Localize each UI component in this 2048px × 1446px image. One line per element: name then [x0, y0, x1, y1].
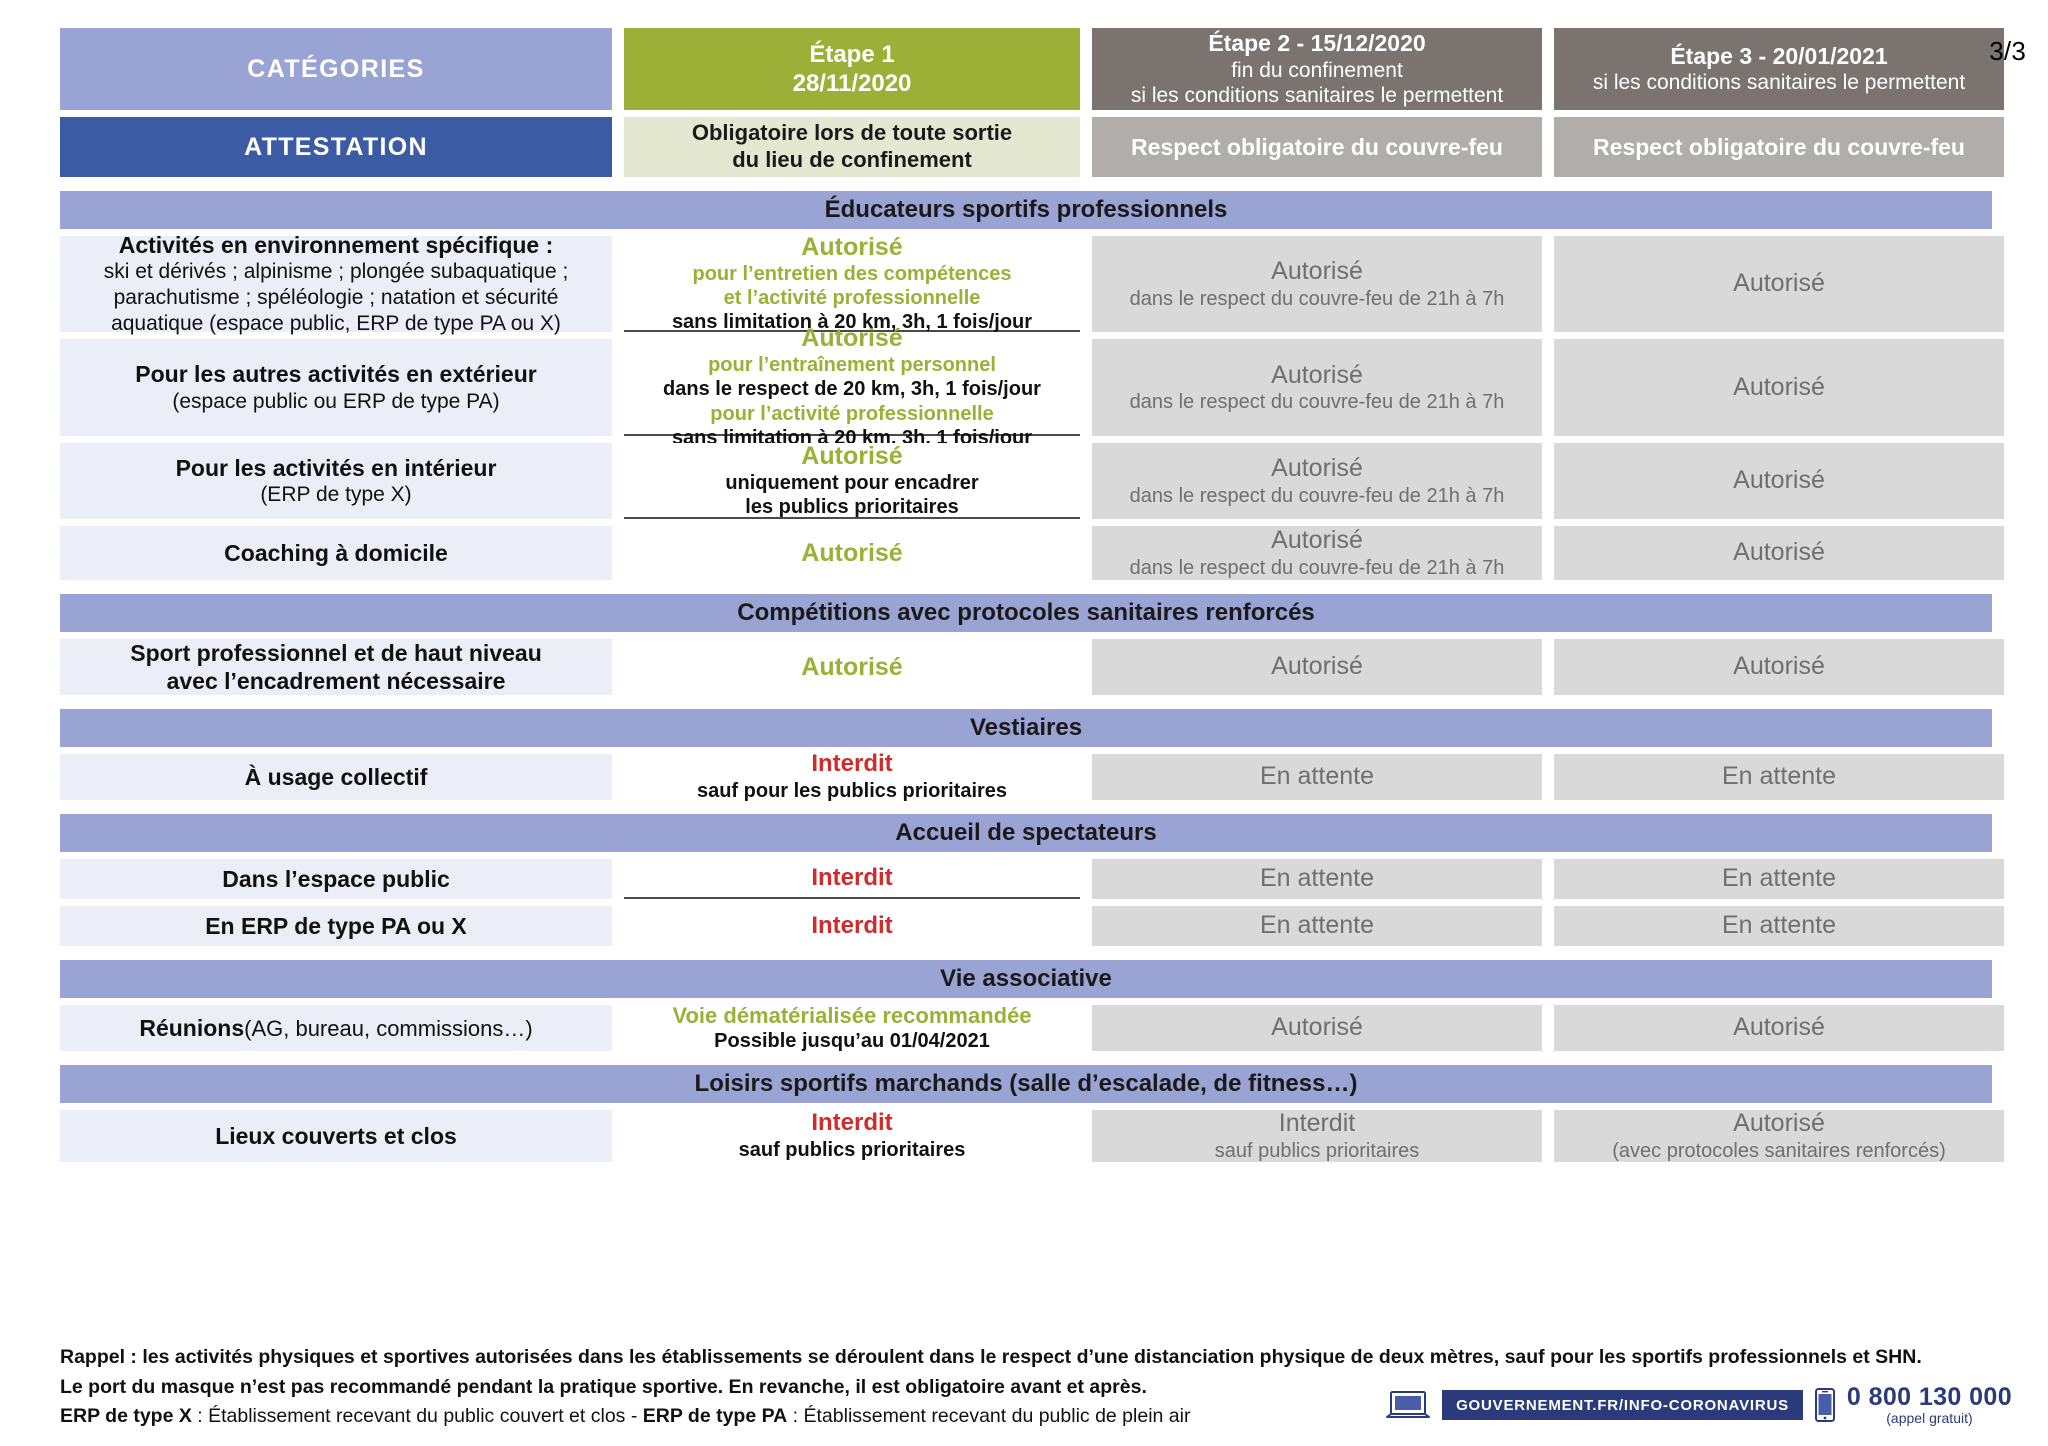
header-etape-3: Étape 3 - 20/01/2021 si les conditions s…: [1554, 28, 2004, 110]
row-etape-2: Autorisé: [1092, 1005, 1542, 1051]
etape-1-status: Autorisé: [801, 441, 902, 471]
table-row: À usage collectif Interdit sauf pour les…: [60, 754, 2012, 800]
etape-1-limit-note-1: dans le respect de 20 km, 3h, 1 fois/jou…: [663, 377, 1041, 401]
row-etape-3: En attente: [1554, 906, 2004, 946]
etape-1-limit-note-1: sauf publics prioritaires: [739, 1138, 966, 1162]
smartphone-icon: [1815, 1388, 1835, 1422]
attestation-row: ATTESTATION Obligatoire lors de toute so…: [60, 117, 2012, 177]
row-etape-2: Interdit sauf publics prioritaires: [1092, 1110, 1542, 1162]
row-etape-2: Autorisé dans le respect du couvre-feu d…: [1092, 236, 1542, 332]
category-title: Pour les activités en intérieur: [176, 454, 497, 482]
row-etape-1: Autorisé pour l’entraînement personnel d…: [624, 339, 1080, 436]
category-title: À usage collectif: [245, 763, 428, 791]
etape-2-status: Autorisé: [1271, 361, 1363, 391]
row-etape-2: Autorisé dans le respect du couvre-feu d…: [1092, 339, 1542, 436]
etape-3-status: Autorisé: [1733, 652, 1825, 682]
section-band-loisirs-marchands: Loisirs sportifs marchands (salle d’esca…: [60, 1065, 1992, 1103]
hotline-block: 0 800 130 000 (appel gratuit): [1847, 1384, 2012, 1426]
etape-1-limit-note-1: sauf pour les publics prioritaires: [697, 779, 1007, 803]
footer: Rappel : les activités physiques et spor…: [60, 1343, 2020, 1432]
header-etape-2-sub2: si les conditions sanitaires le permette…: [1131, 83, 1503, 108]
category-sub-2: parachutisme ; spéléologie ; natation et…: [114, 285, 559, 311]
etape-1-status: Voie dématérialisée recommandée: [672, 1003, 1031, 1029]
category-subtitle: (AG, bureau, commissions…): [244, 1016, 533, 1041]
etape-2-note: dans le respect du couvre-feu de 21h à 7…: [1130, 390, 1505, 414]
etape-1-status: Autorisé: [801, 232, 902, 262]
row-etape-1: Voie dématérialisée recommandée Possible…: [624, 1005, 1080, 1051]
header-etape-2-sub1: fin du confinement: [1231, 58, 1403, 83]
page-number: 3/3: [1989, 36, 2026, 67]
header-etape-3-sub1: si les conditions sanitaires le permette…: [1593, 70, 1965, 95]
category-sub-1: (ERP de type X): [260, 482, 411, 508]
row-etape-2: En attente: [1092, 859, 1542, 899]
table-row: Lieux couverts et clos Interdit sauf pub…: [60, 1110, 2012, 1162]
table-row: Activités en environnement spécifique : …: [60, 236, 2012, 332]
header-etape-1-title: Étape 1: [809, 40, 894, 69]
etape-1-status-note-2: et l’activité professionnelle: [724, 286, 981, 310]
category-title: En ERP de type PA ou X: [205, 912, 467, 940]
etape-3-status: Autorisé: [1733, 1013, 1825, 1043]
etape-3-status: Autorisé: [1733, 466, 1825, 496]
etape-2-status: En attente: [1260, 864, 1374, 894]
category-sub-1: (espace public ou ERP de type PA): [172, 389, 499, 415]
table-row: Dans l’espace public Interdit En attente…: [60, 859, 2012, 899]
attestation-etape-1-line1: Obligatoire lors de toute sortie: [692, 120, 1012, 147]
row-etape-2: En attente: [1092, 754, 1542, 800]
row-etape-1: Autorisé pour l’entretien des compétence…: [624, 236, 1080, 332]
etape-2-status: Autorisé: [1271, 257, 1363, 287]
etape-3-status: Autorisé: [1733, 1109, 1825, 1139]
row-etape-1: Interdit sauf pour les publics prioritai…: [624, 754, 1080, 800]
row-category: Coaching à domicile: [60, 526, 612, 580]
row-category: Pour les autres activités en extérieur (…: [60, 339, 612, 436]
footer-erp-x-def: : Établissement recevant du public couve…: [192, 1405, 643, 1427]
hotline-number: 0 800 130 000: [1847, 1384, 2012, 1410]
etape-3-status: En attente: [1722, 762, 1836, 792]
etape-3-status: En attente: [1722, 864, 1836, 894]
row-etape-1: Interdit: [624, 906, 1080, 946]
etape-2-status: Autorisé: [1271, 526, 1363, 556]
row-etape-3: Autorisé: [1554, 443, 2004, 519]
header-etape-2: Étape 2 - 15/12/2020 fin du confinement …: [1092, 28, 1542, 110]
attestation-etape-1-line2: du lieu de confinement: [732, 147, 972, 174]
etape-2-status: Interdit: [1279, 1109, 1355, 1139]
attestation-etape-2: Respect obligatoire du couvre-feu: [1092, 117, 1542, 177]
etape-1-status-note-2: pour l’activité professionnelle: [710, 402, 993, 426]
row-etape-2: En attente: [1092, 906, 1542, 946]
row-etape-2: Autorisé: [1092, 639, 1542, 695]
etape-1-status: Interdit: [811, 750, 892, 779]
row-etape-3: Autorisé: [1554, 339, 2004, 436]
category-title-line-2: avec l’encadrement nécessaire: [167, 667, 506, 695]
etape-2-status: Autorisé: [1271, 454, 1363, 484]
etape-1-status-note-1: pour l’entraînement personnel: [708, 353, 996, 377]
row-etape-3: En attente: [1554, 754, 2004, 800]
etape-2-note: dans le respect du couvre-feu de 21h à 7…: [1130, 556, 1505, 580]
footer-erp-pa-def: : Établissement recevant du public de pl…: [787, 1405, 1190, 1427]
etape-1-limit-note-2: les publics prioritaires: [745, 495, 958, 519]
etape-2-status: Autorisé: [1271, 652, 1363, 682]
category-title: Réunions: [139, 1015, 244, 1041]
table-row: En ERP de type PA ou X Interdit En atten…: [60, 906, 2012, 946]
category-title-line-1: Sport professionnel et de haut niveau: [130, 639, 542, 667]
etape-2-status: En attente: [1260, 911, 1374, 941]
header-etape-1: Étape 1 28/11/2020: [624, 28, 1080, 110]
etape-3-status: Autorisé: [1733, 269, 1825, 299]
row-category: Sport professionnel et de haut niveau av…: [60, 639, 612, 695]
attestation-etape-3: Respect obligatoire du couvre-feu: [1554, 117, 2004, 177]
etape-1-status: Interdit: [811, 1109, 892, 1138]
header-etape-3-title: Étape 3 - 20/01/2021: [1670, 43, 1887, 71]
etape-1-limit-note-1: Possible jusqu’au 01/04/2021: [714, 1029, 990, 1053]
attestation-label: ATTESTATION: [60, 117, 612, 177]
etape-3-note: (avec protocoles sanitaires renforcés): [1612, 1139, 1945, 1163]
etape-2-status: En attente: [1260, 762, 1374, 792]
covid-sports-rules-table: 3/3 CATÉGORIES Étape 1 28/11/2020 Étape …: [0, 0, 2048, 1446]
header-categories: CATÉGORIES: [60, 28, 612, 110]
table-row: Réunions(AG, bureau, commissions…) Voie …: [60, 1005, 2012, 1051]
row-etape-1: Autorisé uniquement pour encadrer les pu…: [624, 443, 1080, 519]
row-etape-1: Autorisé: [624, 526, 1080, 580]
hotline-free-note: (appel gratuit): [1886, 1411, 1972, 1426]
etape-1-status: Interdit: [811, 912, 892, 941]
section-band-competitions: Compétitions avec protocoles sanitaires …: [60, 594, 1992, 632]
row-etape-3: En attente: [1554, 859, 2004, 899]
category-title: Dans l’espace public: [222, 865, 450, 893]
row-category: En ERP de type PA ou X: [60, 906, 612, 946]
section-band-spectateurs: Accueil de spectateurs: [60, 814, 1992, 852]
row-etape-1: Autorisé: [624, 639, 1080, 695]
row-etape-3: Autorisé: [1554, 526, 2004, 580]
etape-3-status: Autorisé: [1733, 373, 1825, 403]
category-title: Coaching à domicile: [224, 539, 448, 567]
government-contact-strip: GOUVERNEMENT.FR/INFO-CORONAVIRUS 0 800 1…: [1386, 1384, 2012, 1426]
row-etape-1: Interdit: [624, 859, 1080, 899]
etape-2-note: dans le respect du couvre-feu de 21h à 7…: [1130, 287, 1505, 311]
etape-3-status: Autorisé: [1733, 538, 1825, 568]
row-category: Lieux couverts et clos: [60, 1110, 612, 1162]
row-category: Réunions(AG, bureau, commissions…): [60, 1005, 612, 1051]
category-title: Activités en environnement spécifique :: [119, 231, 554, 259]
section-band-educateurs: Éducateurs sportifs professionnels: [60, 191, 1992, 229]
laptop-icon: [1386, 1390, 1430, 1420]
etape-1-limit-note-1: uniquement pour encadrer: [725, 471, 978, 495]
footer-erp-x-label: ERP de type X: [60, 1405, 192, 1427]
etape-2-status: Autorisé: [1271, 1013, 1363, 1043]
etape-3-status: En attente: [1722, 911, 1836, 941]
category-title: Pour les autres activités en extérieur: [135, 360, 536, 388]
category-sub-1: ski et dérivés ; alpinisme ; plongée sub…: [104, 259, 569, 285]
footer-erp-pa-label: ERP de type PA: [643, 1405, 788, 1427]
header-etape-2-title: Étape 2 - 15/12/2020: [1208, 30, 1425, 58]
row-category: Activités en environnement spécifique : …: [60, 236, 612, 332]
row-etape-3: Autorisé: [1554, 639, 2004, 695]
table-row: Pour les autres activités en extérieur (…: [60, 339, 2012, 436]
etape-1-status: Autorisé: [801, 652, 902, 682]
row-etape-2: Autorisé dans le respect du couvre-feu d…: [1092, 443, 1542, 519]
row-etape-3: Autorisé: [1554, 236, 2004, 332]
etape-1-status: Interdit: [811, 864, 892, 893]
etape-1-status-note-1: pour l’entretien des compétences: [693, 262, 1012, 286]
table-row: Sport professionnel et de haut niveau av…: [60, 639, 2012, 695]
etape-1-status: Autorisé: [801, 538, 902, 568]
row-etape-3: Autorisé (avec protocoles sanitaires ren…: [1554, 1110, 2004, 1162]
etape-2-note: dans le respect du couvre-feu de 21h à 7…: [1130, 484, 1505, 508]
header-etape-1-date: 28/11/2020: [793, 69, 912, 98]
etape-2-note: sauf publics prioritaires: [1215, 1139, 1420, 1163]
table-row: Pour les activités en intérieur (ERP de …: [60, 443, 2012, 519]
table-header-row: CATÉGORIES Étape 1 28/11/2020 Étape 2 - …: [60, 28, 2012, 110]
row-category: À usage collectif: [60, 754, 612, 800]
section-band-vestiaires: Vestiaires: [60, 709, 1992, 747]
attestation-etape-1: Obligatoire lors de toute sortie du lieu…: [624, 117, 1080, 177]
row-category: Pour les activités en intérieur (ERP de …: [60, 443, 612, 519]
category-sub-3: aquatique (espace public, ERP de type PA…: [111, 311, 561, 337]
row-category: Dans l’espace public: [60, 859, 612, 899]
category-title: Lieux couverts et clos: [215, 1122, 457, 1150]
gov-website-badge[interactable]: GOUVERNEMENT.FR/INFO-CORONAVIRUS: [1442, 1390, 1803, 1420]
row-etape-2: Autorisé dans le respect du couvre-feu d…: [1092, 526, 1542, 580]
row-etape-1: Interdit sauf publics prioritaires: [624, 1110, 1080, 1162]
category-title-composite: Réunions(AG, bureau, commissions…): [139, 1015, 532, 1042]
etape-1-status: Autorisé: [801, 323, 902, 353]
section-band-vie-associative: Vie associative: [60, 960, 1992, 998]
row-etape-3: Autorisé: [1554, 1005, 2004, 1051]
footer-note-1: Rappel : les activités physiques et spor…: [60, 1343, 2020, 1373]
table-row: Coaching à domicile Autorisé Autorisé da…: [60, 526, 2012, 580]
